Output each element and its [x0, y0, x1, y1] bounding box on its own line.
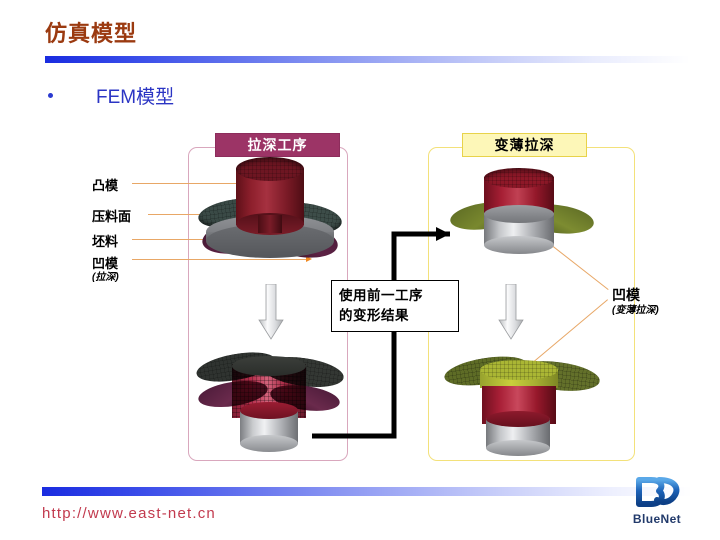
bullet-label: FEM模型: [96, 82, 174, 109]
note-line-1: 使用前一工序: [339, 286, 458, 306]
punch-nose: [258, 215, 282, 233]
slide-canvas: 仿真模型 FEM模型 拉深工序 变薄拉深 凸模 压料面 坯料 凹模 (拉深) 凹…: [0, 0, 720, 540]
result-base-bottom: [240, 435, 298, 452]
result-base-top: [240, 402, 298, 419]
callout-label-blank-text: 坯料: [92, 234, 118, 249]
callout-sublabel-die-ironing: (变薄拉深): [612, 305, 659, 316]
page-title: 仿真模型: [45, 22, 137, 46]
callout-sublabel-die-drawing: (拉深): [92, 272, 119, 283]
callout-label-blankholder-text: 压料面: [92, 209, 131, 224]
bluenet-logo: BlueNet: [617, 470, 697, 532]
footer-divider: [42, 487, 692, 496]
callout-label-die-drawing-text: 凹模: [92, 256, 118, 271]
callout-label-die-ironing-text: 凹模: [612, 287, 640, 303]
panel-header-ironing: 变薄拉深: [462, 133, 587, 157]
callout-label-punch: 凸模: [92, 175, 118, 194]
ironing-cup-top: [484, 168, 554, 188]
note-line-2: 的变形结果: [339, 306, 458, 326]
note-box: 使用前一工序 的变形结果: [331, 280, 459, 332]
transfer-arrow: [300, 210, 500, 460]
down-arrow-left: [258, 284, 284, 340]
panel-header-drawing: 拉深工序: [215, 133, 340, 157]
callout-label-punch-text: 凸模: [92, 178, 118, 193]
callout-label-die-drawing: 凹模 (拉深): [92, 253, 119, 283]
bullet-marker-icon: [48, 93, 53, 98]
result-cup-top: [232, 356, 306, 376]
bluenet-ribbon-logo-icon: [617, 470, 697, 514]
down-arrow-right: [498, 284, 524, 340]
title-divider: [45, 56, 690, 63]
footer-url[interactable]: http://www.east-net.cn: [42, 505, 216, 522]
bluenet-logo-text: BlueNet: [617, 512, 697, 526]
transfer-arrow-head-icon: [436, 227, 450, 241]
bullet-row: FEM模型: [48, 82, 448, 110]
punch-top: [236, 157, 304, 181]
callout-label-blank: 坯料: [92, 231, 118, 250]
callout-label-die-ironing: 凹模 (变薄拉深): [612, 285, 659, 316]
callout-label-blankholder: 压料面: [92, 206, 131, 225]
